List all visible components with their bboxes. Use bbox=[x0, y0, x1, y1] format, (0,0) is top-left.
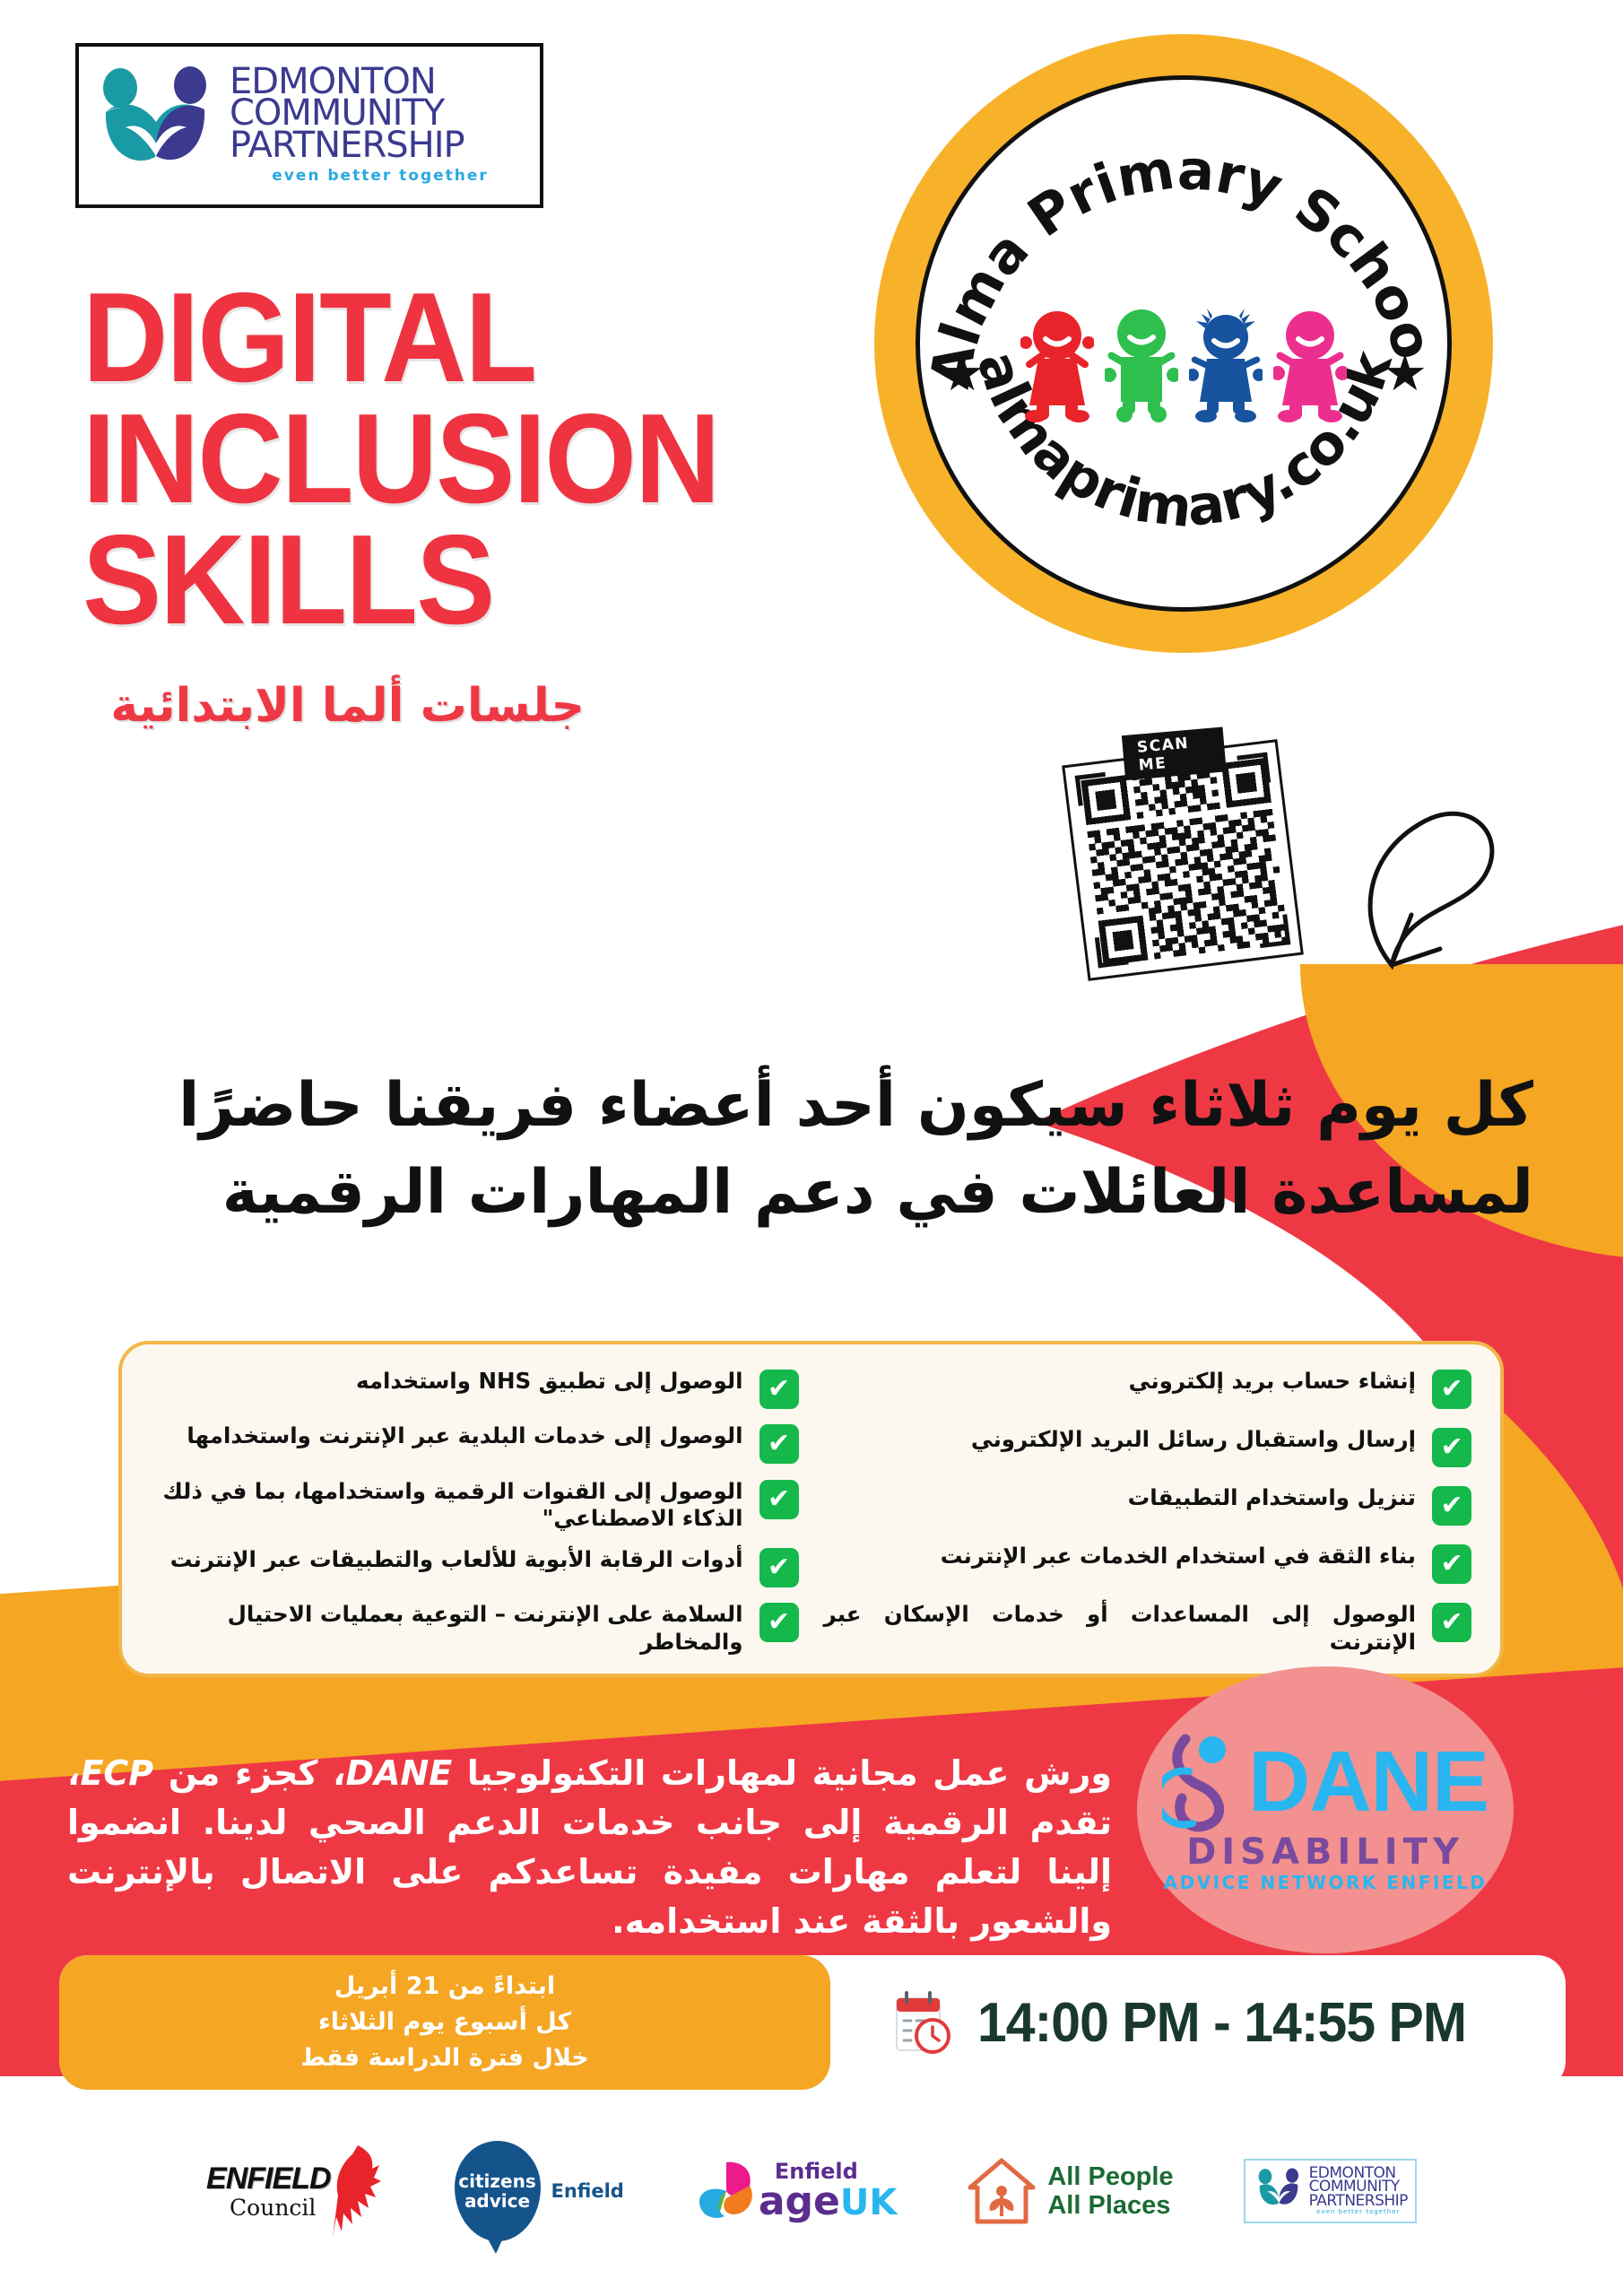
age-uk-age: age bbox=[759, 2179, 840, 2224]
title-line-3: SKILLS bbox=[82, 520, 716, 641]
body-mid: ، كجزء من bbox=[153, 1753, 345, 1793]
schedule-dates: ابتداءً من 21 أبريل كل أسبوع يوم الثلاثا… bbox=[59, 1955, 830, 2090]
checklist-item: ✔ الوصول إلى خدمات البلدية عبر الإنترنت … bbox=[151, 1422, 799, 1464]
check-icon: ✔ bbox=[1432, 1544, 1471, 1584]
all-people-line-1: All People bbox=[1047, 2162, 1173, 2191]
body-brand-ecp: ECP bbox=[80, 1753, 153, 1793]
schedule-date-line-3: خلال فترة الدراسة فقط bbox=[300, 2040, 589, 2076]
qr-code-icon[interactable] bbox=[1081, 758, 1289, 966]
check-icon: ✔ bbox=[1432, 1428, 1471, 1467]
checklist-item-label: الوصول إلى المساعدات أو خدمات الإسكان عب… bbox=[824, 1601, 1417, 1656]
title-line-2: INCLUSION bbox=[82, 399, 716, 520]
checklist-item: ✔ الوصول إلى المساعدات أو خدمات الإسكان … bbox=[824, 1601, 1472, 1656]
checklist-item-label: الوصول إلى القنوات الرقمية واستخدامها، ب… bbox=[151, 1478, 743, 1533]
check-icon: ✔ bbox=[1432, 1603, 1471, 1642]
citizens-advice-line-2: advice bbox=[464, 2191, 530, 2211]
schedule-bar: ابتداءً من 21 أبريل كل أسبوع يوم الثلاثا… bbox=[59, 1955, 1566, 2090]
schedule-date-line-1: ابتداءً من 21 أبريل bbox=[300, 1969, 589, 2005]
qr-corner-tl-icon bbox=[1075, 772, 1109, 806]
checklist-item: ✔ الوصول إلى تطبيق NHS واستخدامه bbox=[151, 1368, 799, 1409]
checklist-item-label: الوصول إلى خدمات البلدية عبر الإنترنت وا… bbox=[151, 1422, 743, 1449]
checklist-item: ✔ السلامة على الإنترنت – التوعية بعمليات… bbox=[151, 1601, 799, 1656]
star-left-icon: ★ bbox=[940, 349, 985, 399]
dane-figure-icon bbox=[1162, 1732, 1248, 1832]
qr-corner-bl-icon bbox=[1095, 934, 1129, 968]
alma-badge-inner: Alma Primary School almaprimary.co.uk ★ … bbox=[916, 75, 1452, 612]
headline-arabic: كل يوم ثلاثاء سيكون أحد أعضاء فريقنا حاض… bbox=[99, 1063, 1533, 1236]
schedule-time-area: 14:00 PM - 14:55 PM bbox=[830, 1955, 1566, 2090]
ecp-footer-line-3: PARTNERSHIP bbox=[1309, 2195, 1408, 2208]
check-icon: ✔ bbox=[759, 1480, 799, 1519]
dane-subtitle-1: DISABILITY bbox=[1186, 1832, 1464, 1872]
body-paragraph-arabic: ورش عمل مجانية لمهارات التكنولوجيا DANE،… bbox=[67, 1749, 1112, 1946]
poster-subtitle-arabic: جلسات ألما الابتدائية bbox=[82, 679, 585, 733]
checklist-item-label: إرسال واستقبال رسائل البريد الإلكتروني bbox=[824, 1426, 1417, 1453]
star-right-icon: ★ bbox=[1383, 349, 1428, 399]
citizens-advice-area: Enfield bbox=[551, 2180, 624, 2202]
age-uk-logo: Enfield ageUK bbox=[694, 2137, 898, 2245]
checklist-column-left: ✔ إنشاء حساب بريد إلكتروني ✔ إرسال واستق… bbox=[811, 1368, 1485, 1656]
check-icon: ✔ bbox=[759, 1370, 799, 1409]
citizens-advice-logo: citizens advice Enfield bbox=[455, 2137, 624, 2245]
curved-arrow-icon bbox=[1345, 789, 1515, 978]
skills-checklist-card: ✔ الوصول إلى تطبيق NHS واستخدامه ✔ الوصو… bbox=[118, 1341, 1504, 1677]
ecp-heart-figures-icon bbox=[88, 63, 222, 188]
calendar-clock-icon bbox=[890, 1987, 954, 2057]
enfield-council-logo: ENFIELD Council bbox=[206, 2137, 384, 2245]
all-people-text: All People All Places bbox=[1047, 2162, 1173, 2221]
ecp-footer-tagline: even better together bbox=[1309, 2208, 1408, 2215]
dane-wordmark: DANE bbox=[1248, 1746, 1488, 1819]
age-uk-uk: UK bbox=[840, 2182, 897, 2223]
checklist-column-right: ✔ الوصول إلى تطبيق NHS واستخدامه ✔ الوصو… bbox=[138, 1368, 811, 1656]
qr-code-block[interactable]: SCAN ME bbox=[1062, 739, 1304, 981]
enfield-council-name: ENFIELD bbox=[206, 2161, 330, 2196]
checklist-item: ✔ إنشاء حساب بريد إلكتروني bbox=[824, 1368, 1472, 1409]
checklist-item-label: السلامة على الإنترنت – التوعية بعمليات ا… bbox=[151, 1601, 743, 1656]
all-people-line-2: All Places bbox=[1047, 2191, 1173, 2220]
checklist-item-label: إنشاء حساب بريد إلكتروني bbox=[824, 1368, 1417, 1395]
checklist-item: ✔ تنزيل واستخدام التطبيقات bbox=[824, 1484, 1472, 1526]
dane-logo-mark: DANE bbox=[1162, 1732, 1488, 1832]
check-icon: ✔ bbox=[759, 1548, 799, 1587]
body-brand-dane: DANE bbox=[346, 1753, 453, 1793]
qr-corner-br-icon bbox=[1256, 914, 1290, 948]
enfield-council-text: ENFIELD Council bbox=[206, 2161, 330, 2221]
checklist-item: ✔ الوصول إلى القنوات الرقمية واستخدامها،… bbox=[151, 1478, 799, 1533]
citizens-advice-line-1: citizens bbox=[458, 2171, 535, 2191]
ecp-tagline: even better together bbox=[230, 167, 531, 185]
ecp-line-3: PARTNERSHIP bbox=[230, 130, 531, 161]
qr-corner-tr-icon bbox=[1237, 752, 1271, 787]
citizens-advice-bubble-icon: citizens advice bbox=[455, 2141, 541, 2241]
house-plant-icon bbox=[967, 2155, 1037, 2227]
enfield-council-sub: Council bbox=[230, 2195, 316, 2221]
checklist-item-label: بناء الثقة في استخدام الخدمات عبر الإنتر… bbox=[824, 1543, 1417, 1570]
ecp-footer-box: EDMONTON COMMUNITY PARTNERSHIP even bett… bbox=[1244, 2159, 1417, 2223]
all-people-all-places-logo: All People All Places bbox=[967, 2137, 1173, 2245]
check-icon: ✔ bbox=[1432, 1486, 1471, 1526]
check-icon: ✔ bbox=[1432, 1370, 1471, 1409]
qr-code-card[interactable]: SCAN ME bbox=[1062, 739, 1304, 981]
check-icon: ✔ bbox=[759, 1603, 799, 1642]
schedule-date-line-2: كل أسبوع يوم الثلاثاء bbox=[300, 2005, 589, 2040]
age-uk-text: Enfield ageUK bbox=[759, 2161, 898, 2222]
checklist-item: ✔ بناء الثقة في استخدام الخدمات عبر الإن… bbox=[824, 1543, 1472, 1584]
checklist-item-label: تنزيل واستخدام التطبيقات bbox=[824, 1484, 1417, 1511]
age-uk-swirl-icon bbox=[694, 2157, 759, 2225]
alma-primary-school-badge: Alma Primary School almaprimary.co.uk ★ … bbox=[874, 34, 1493, 653]
body-prefix: ورش عمل مجانية لمهارات التكنولوجيا bbox=[452, 1753, 1112, 1793]
dane-logo: DANE DISABILITY ADVICE NETWORK ENFIELD bbox=[1137, 1666, 1514, 1953]
poster-root: EDMONTON COMMUNITY PARTNERSHIP even bett… bbox=[0, 0, 1623, 2296]
children-figures-icon bbox=[1020, 309, 1347, 423]
scan-me-label: SCAN ME bbox=[1122, 726, 1227, 780]
checklist-item-label: الوصول إلى تطبيق NHS واستخدامه bbox=[151, 1368, 743, 1395]
check-icon: ✔ bbox=[759, 1424, 799, 1464]
schedule-time: 14:00 PM - 14:55 PM bbox=[977, 1991, 1466, 2055]
checklist-item-label: أدوات الرقابة الأبوية للألعاب والتطبيقات… bbox=[151, 1546, 743, 1573]
ecp-footer-text: EDMONTON COMMUNITY PARTNERSHIP even bett… bbox=[1309, 2167, 1408, 2215]
partner-logos: ENFIELD Council citizens advice Enfield bbox=[0, 2124, 1623, 2258]
ecp-footer-logo: EDMONTON COMMUNITY PARTNERSHIP even bett… bbox=[1244, 2137, 1417, 2245]
ecp-logo: EDMONTON COMMUNITY PARTNERSHIP even bett… bbox=[75, 43, 543, 208]
checklist-item: ✔ أدوات الرقابة الأبوية للألعاب والتطبيق… bbox=[151, 1546, 799, 1587]
poster-title: DIGITAL INCLUSION SKILLS جلسات ألما الاب… bbox=[82, 278, 764, 733]
ecp-logo-text: EDMONTON COMMUNITY PARTNERSHIP even bett… bbox=[230, 66, 531, 185]
dane-subtitle-2: ADVICE NETWORK ENFIELD bbox=[1164, 1872, 1488, 1893]
enfield-knight-icon bbox=[331, 2142, 385, 2240]
ecp-heart-figures-icon bbox=[1253, 2166, 1305, 2216]
title-line-1: DIGITAL bbox=[82, 278, 716, 399]
checklist-item: ✔ إرسال واستقبال رسائل البريد الإلكتروني bbox=[824, 1426, 1472, 1467]
